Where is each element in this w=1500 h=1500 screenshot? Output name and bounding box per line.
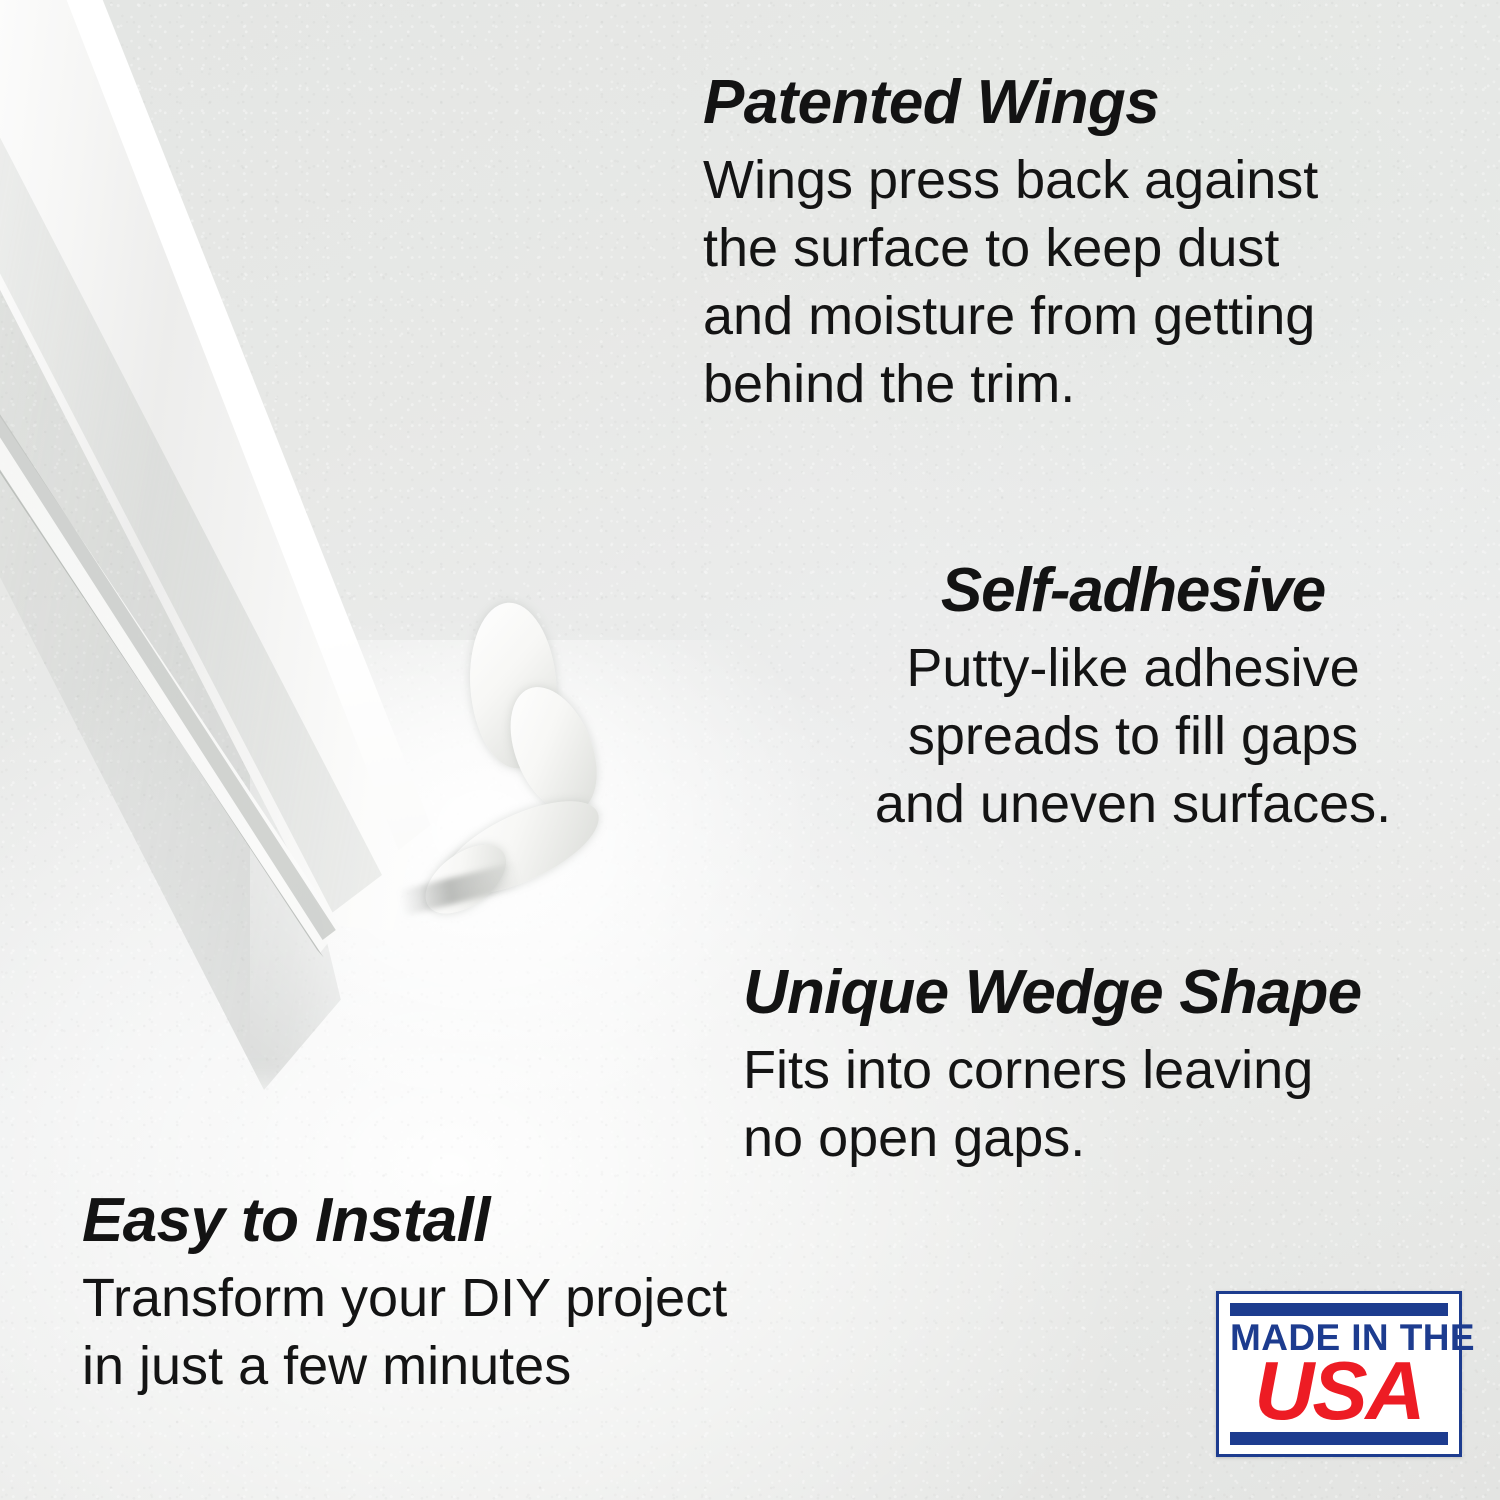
feature-body-line: behind the trim. xyxy=(703,350,1318,418)
feature-block-unique-wedge-shape: Unique Wedge Shape Fits into corners lea… xyxy=(743,962,1443,1172)
feature-body-line: and moisture from getting xyxy=(703,282,1318,350)
feature-heading: Easy to Install xyxy=(82,1190,727,1252)
feature-body: Transform your DIY project in just a few… xyxy=(82,1264,727,1400)
feature-heading: Patented Wings xyxy=(703,72,1318,134)
badge-bottom-bar xyxy=(1230,1432,1448,1445)
feature-body-line: Transform your DIY project xyxy=(82,1264,727,1332)
made-in-usa-badge: MADE IN THE USA xyxy=(1216,1291,1462,1457)
feature-body: Fits into corners leaving no open gaps. xyxy=(743,1036,1443,1172)
feature-block-patented-wings: Patented Wings Wings press back against … xyxy=(703,72,1318,418)
feature-body: Wings press back against the surface to … xyxy=(703,146,1318,418)
infographic-canvas: Patented Wings Wings press back against … xyxy=(0,0,1500,1500)
badge-top-bar xyxy=(1230,1303,1448,1316)
feature-body-line: Wings press back against xyxy=(703,146,1318,214)
feature-body: Putty-like adhesive spreads to fill gaps… xyxy=(848,634,1418,838)
feature-block-self-adhesive: Self-adhesive Putty-like adhesive spread… xyxy=(848,560,1418,838)
feature-heading: Unique Wedge Shape xyxy=(743,962,1443,1024)
feature-body-line: the surface to keep dust xyxy=(703,214,1318,282)
feature-block-easy-to-install: Easy to Install Transform your DIY proje… xyxy=(82,1190,727,1400)
feature-body-line: Fits into corners leaving xyxy=(743,1036,1443,1104)
feature-body-line: no open gaps. xyxy=(743,1104,1443,1172)
feature-body-line: in just a few minutes xyxy=(82,1332,727,1400)
feature-body-line: and uneven surfaces. xyxy=(848,770,1418,838)
badge-usa-text: USA xyxy=(1230,1355,1448,1426)
feature-body-line: spreads to fill gaps xyxy=(848,702,1418,770)
feature-body-line: Putty-like adhesive xyxy=(848,634,1418,702)
feature-heading: Self-adhesive xyxy=(848,560,1418,622)
